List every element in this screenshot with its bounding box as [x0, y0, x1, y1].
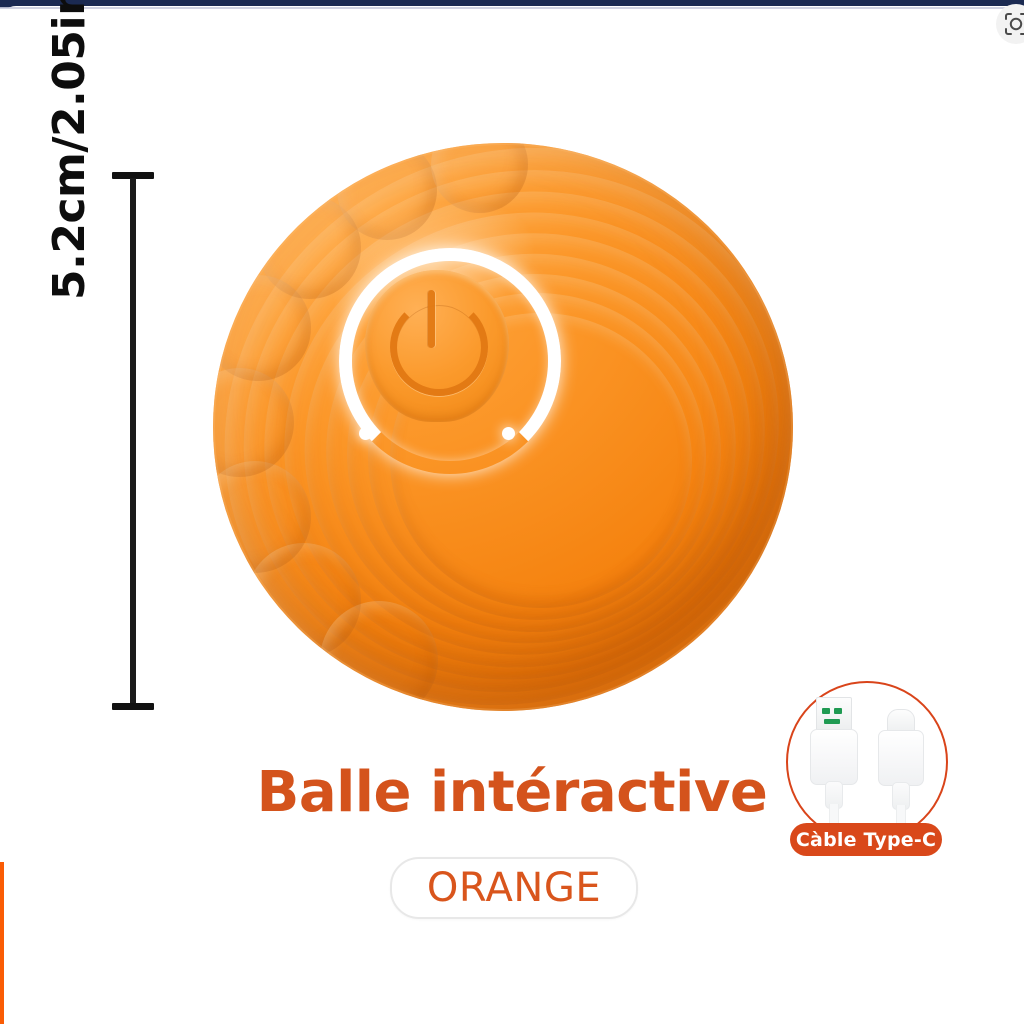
usb-a-shell [810, 729, 858, 785]
dimension-label: 5.2cm/2.05in [44, 0, 95, 300]
power-button-pad[interactable] [365, 270, 509, 422]
usb-a-contact-pad [824, 719, 840, 724]
usb-a-contact-pad [834, 708, 842, 714]
power-button-cluster[interactable] [339, 248, 535, 458]
accessory-badge: Càble Type-C [790, 823, 942, 856]
usb-c-shell [878, 730, 924, 786]
power-led-halo-cap-right [502, 427, 515, 440]
scan-viewfinder-icon [1003, 11, 1024, 37]
ruler-shaft [130, 178, 136, 704]
left-accent-bar [0, 862, 4, 1024]
usb-a-head [816, 697, 852, 732]
ball-scallop [337, 143, 437, 240]
usb-a-connector [810, 697, 856, 819]
accessory-inset: Càble Type-C [786, 681, 948, 856]
ruler-cap-bottom [112, 703, 154, 710]
color-option-pill[interactable]: ORANGE [390, 857, 638, 919]
title-bar-divider [0, 7, 1024, 9]
color-option-label: ORANGE [427, 865, 601, 911]
dimension-ruler [112, 172, 154, 710]
power-icon [390, 298, 484, 392]
power-led-halo-cap-left [359, 427, 372, 440]
ball-body [213, 143, 793, 711]
usb-a-contact-pad [822, 708, 830, 714]
accessory-badge-label: Càble Type-C [796, 829, 936, 851]
usb-c-connector [878, 709, 922, 821]
product-ball-image [205, 137, 800, 717]
